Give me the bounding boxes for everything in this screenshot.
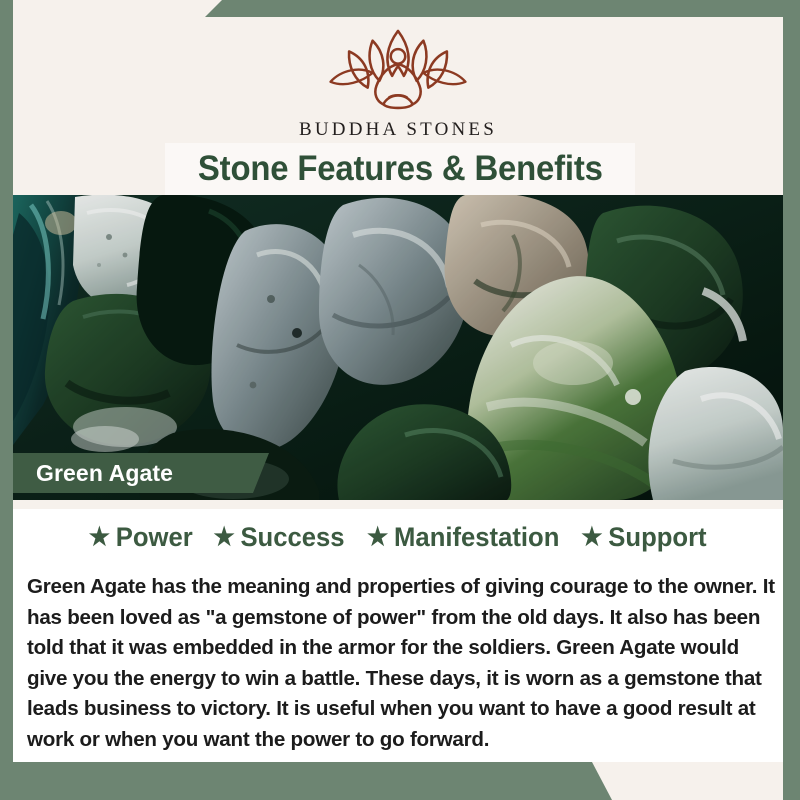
benefit-label: Manifestation (394, 522, 559, 553)
frame-top-bar (0, 0, 800, 17)
stone-name-banner: Green Agate (13, 453, 269, 493)
stone-name-label: Green Agate (13, 460, 173, 487)
frame-right-bar (783, 0, 800, 800)
benefit-item-power: ★ Power (89, 522, 193, 553)
star-icon: ★ (581, 525, 602, 550)
brand-logo: BUDDHA STONES (13, 27, 783, 141)
page-surface: BUDDHA STONES Stone Features & Benefits (13, 17, 783, 762)
star-icon: ★ (213, 525, 234, 550)
title-band: Stone Features & Benefits (165, 143, 635, 195)
star-icon: ★ (89, 525, 110, 550)
benefit-item-manifestation: ★ Manifestation (367, 522, 559, 553)
page-title: Stone Features & Benefits (198, 149, 603, 189)
benefit-item-success: ★ Success (213, 522, 344, 553)
star-icon: ★ (367, 525, 388, 550)
stone-benefits-infographic: BUDDHA STONES Stone Features & Benefits (0, 0, 800, 800)
lotus-meditation-figure-icon (318, 27, 478, 117)
content-panel: ★ Power ★ Success ★ Manifestation ★ Supp… (13, 500, 783, 762)
content-top-strip (13, 500, 783, 509)
frame-left-bar (0, 0, 13, 800)
benefit-label: Success (240, 522, 344, 553)
header: BUDDHA STONES Stone Features & Benefits (13, 17, 783, 195)
brand-name: BUDDHA STONES (299, 119, 497, 141)
benefit-label: Power (116, 522, 193, 553)
benefit-item-support: ★ Support (581, 522, 706, 553)
stone-description: Green Agate has the meaning and properti… (27, 572, 779, 755)
benefits-list: ★ Power ★ Success ★ Manifestation ★ Supp… (13, 522, 783, 553)
benefit-label: Support (608, 522, 706, 553)
frame-bottom-bar (0, 762, 800, 800)
